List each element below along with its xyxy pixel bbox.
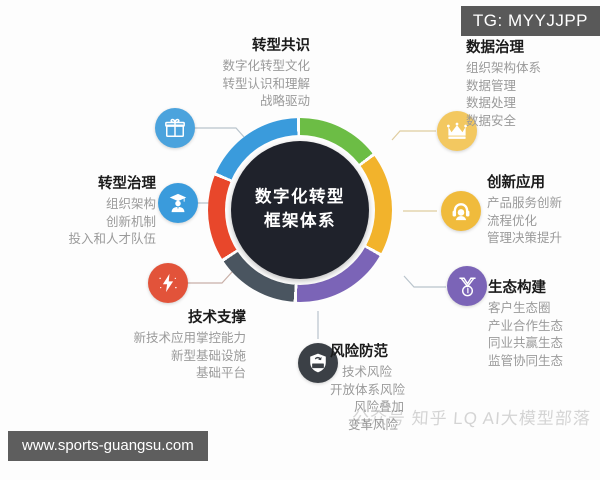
donut-center-hub: 数字化转型 框架体系 [231, 141, 369, 279]
block-item: 数据处理 [466, 95, 600, 113]
block-item: 新技术应用掌控能力 [30, 330, 246, 348]
block-item: 基础平台 [30, 365, 246, 383]
block-item: 数据安全 [466, 113, 600, 131]
block-title: 转型治理 [0, 174, 156, 196]
block-item: 客户生态圈 [488, 300, 600, 318]
block-item: 风险叠加 [330, 399, 510, 417]
medal-icon[interactable] [447, 266, 487, 306]
center-title-line1: 数字化转型 [255, 186, 345, 210]
block-technology-support: 技术支撑 新技术应用掌控能力 新型基础设施 基础平台 [30, 308, 246, 383]
block-title: 生态构建 [488, 278, 600, 300]
block-risk-prevention: 风险防范 技术风险 开放体系风险 风险叠加 变革风险 [330, 342, 510, 435]
block-item: 产业合作生态 [488, 318, 600, 336]
block-item: 新型基础设施 [30, 348, 246, 366]
block-item: 组织架构 [0, 196, 156, 214]
block-item: 变革风险 [330, 417, 510, 435]
block-title: 技术支撑 [30, 308, 246, 330]
center-title-line2: 框架体系 [264, 210, 336, 234]
block-item: 组织架构体系 [466, 60, 600, 78]
block-innovation-application: 创新应用 产品服务创新 流程优化 管理决策提升 [487, 173, 600, 248]
infographic-canvas: 数字化转型 框架体系 [0, 0, 600, 480]
graduate-person-icon[interactable] [158, 183, 198, 223]
block-item: 管理决策提升 [487, 230, 600, 248]
block-transformation-governance: 转型治理 组织架构 创新机制 投入和人才队伍 [0, 174, 156, 249]
block-item: 开放体系风险 [330, 382, 510, 400]
block-item: 产品服务创新 [487, 195, 600, 213]
tg-badge: TG: MYYJJPP [461, 6, 600, 36]
block-item: 监管协同生态 [488, 353, 600, 371]
block-title: 创新应用 [487, 173, 600, 195]
block-item: 同业共赢生态 [488, 335, 600, 353]
block-transformation-consensus: 转型共识 数字化转型文化 转型认识和理解 战略驱动 [120, 36, 310, 111]
block-item: 转型认识和理解 [120, 76, 310, 94]
block-item: 流程优化 [487, 213, 600, 231]
site-url-badge: www.sports-guangsu.com [8, 431, 208, 461]
block-ecosystem-building: 生态构建 客户生态圈 产业合作生态 同业共赢生态 监管协同生态 [488, 278, 600, 371]
gift-icon[interactable] [155, 108, 195, 148]
block-item: 数字化转型文化 [120, 58, 310, 76]
block-title: 数据治理 [466, 38, 600, 60]
block-item: 投入和人才队伍 [0, 231, 156, 249]
block-item: 创新机制 [0, 214, 156, 232]
block-item: 技术风险 [330, 364, 510, 382]
headset-support-icon[interactable] [441, 191, 481, 231]
lightning-bolt-icon[interactable] [148, 263, 188, 303]
block-data-governance: 数据治理 组织架构体系 数据管理 数据处理 数据安全 [466, 38, 600, 131]
block-item: 战略驱动 [120, 93, 310, 111]
donut-chart: 数字化转型 框架体系 [208, 118, 392, 302]
block-item: 数据管理 [466, 78, 600, 96]
block-title: 转型共识 [120, 36, 310, 58]
block-title: 风险防范 [330, 342, 510, 364]
